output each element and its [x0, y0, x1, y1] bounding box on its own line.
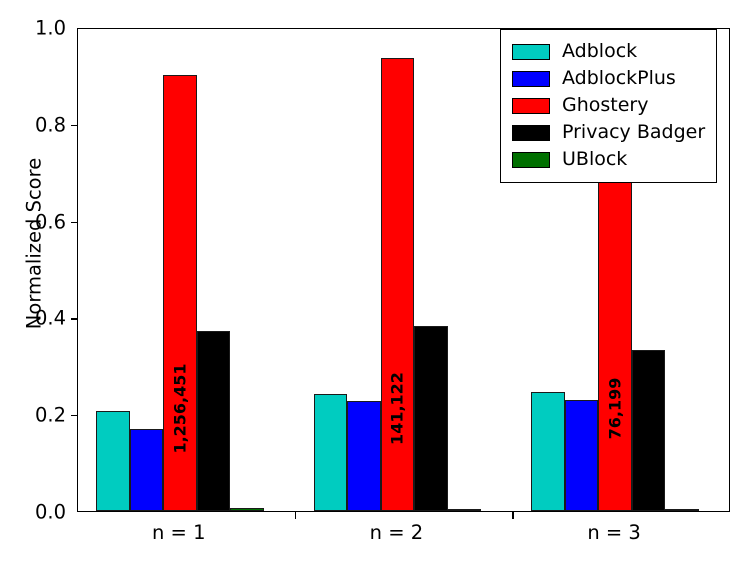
legend-label: Ghostery [562, 96, 648, 115]
bar-chart-figure: Normalized Score 0.00.20.40.60.81.0 n = … [0, 0, 747, 561]
y-tick-label: 1.0 [6, 18, 66, 38]
legend-item-adblock: Adblock [512, 38, 705, 65]
bar [448, 509, 482, 511]
x-tick-label: n = 3 [534, 521, 694, 544]
y-tick-label: 0.8 [6, 115, 66, 135]
bar-value-label: 76,199 [606, 378, 625, 440]
bar [665, 509, 699, 511]
bar [314, 394, 348, 511]
bar [130, 429, 164, 511]
bar [96, 411, 130, 511]
legend-item-adblockplus: AdblockPlus [512, 65, 705, 92]
legend-label: Adblock [562, 42, 637, 61]
legend-label: AdblockPlus [562, 69, 676, 88]
bar: 141,122 [381, 58, 415, 511]
bar [230, 508, 264, 511]
legend-swatch-icon [512, 71, 550, 87]
legend-item-privacy-badger: Privacy Badger [512, 119, 705, 146]
x-tick-mark [295, 512, 296, 519]
bar: 1,256,451 [163, 75, 197, 511]
legend-item-ublock: UBlock [512, 146, 705, 173]
y-axis-label: Normalized Score [23, 34, 46, 454]
bar-value-label: 1,256,451 [170, 363, 189, 453]
y-tick-label: 0.6 [6, 212, 66, 232]
bar [197, 331, 231, 511]
y-tick-label: 0.2 [6, 405, 66, 425]
bar [531, 392, 565, 511]
legend-label: UBlock [562, 150, 627, 169]
x-tick-label: n = 1 [99, 521, 259, 544]
bar: 76,199 [598, 135, 632, 511]
legend-item-ghostery: Ghostery [512, 92, 705, 119]
y-tick-label: 0.0 [6, 502, 66, 522]
legend-swatch-icon [512, 152, 550, 168]
legend-swatch-icon [512, 44, 550, 60]
chart-legend: AdblockAdblockPlusGhosteryPrivacy Badger… [500, 29, 717, 183]
bar [414, 326, 448, 511]
y-tick-label: 0.4 [6, 309, 66, 329]
legend-swatch-icon [512, 98, 550, 114]
legend-label: Privacy Badger [562, 123, 705, 142]
bar [632, 350, 666, 511]
bar [347, 401, 381, 511]
x-tick-mark [512, 512, 513, 519]
bar-value-label: 141,122 [388, 372, 407, 445]
legend-swatch-icon [512, 125, 550, 141]
x-tick-label: n = 2 [316, 521, 476, 544]
bar [565, 400, 599, 511]
